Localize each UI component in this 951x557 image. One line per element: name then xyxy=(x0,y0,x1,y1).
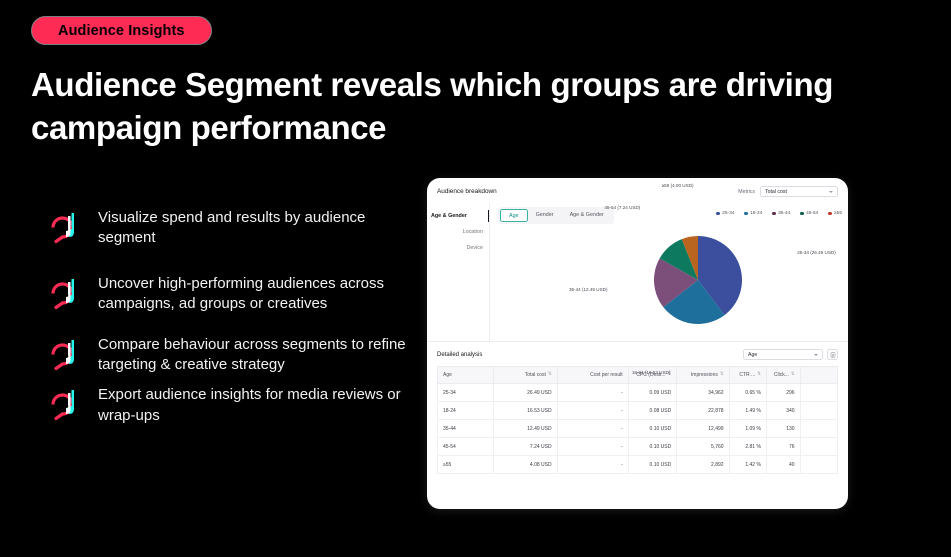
tiktok-mark-icon xyxy=(48,275,86,311)
list-item: Export audience insights for media revie… xyxy=(48,383,408,426)
cell-cost-per-result: - xyxy=(557,384,628,402)
panel-title: Audience breakdown xyxy=(437,188,497,195)
cell-impressions: 2,892 xyxy=(677,456,729,474)
cell-ctr: 2.81 % xyxy=(729,438,766,456)
column-header-age[interactable]: Age xyxy=(438,367,494,384)
cell-clicks: 340 xyxy=(766,402,800,420)
dimension-select-value: Age xyxy=(748,352,757,358)
sort-icon[interactable]: ⇅ xyxy=(720,372,724,376)
metrics-select-value: Total cost xyxy=(765,189,787,195)
column-label: Cost per result xyxy=(590,372,623,378)
cell-cpc: 0.10 USD xyxy=(628,438,677,456)
tab-age-gender[interactable]: Age & Gender xyxy=(562,209,612,222)
cell-total-cost: 4.08 USD xyxy=(494,456,558,474)
list-item-label: Uncover high-performing audiences across… xyxy=(98,272,408,315)
detailed-analysis-panel: Detailed analysis Age xyxy=(427,341,848,509)
column-header-spacer xyxy=(800,367,837,384)
cell-spacer xyxy=(800,438,837,456)
chart-legend: 25-34 18-24 35-44 45-54 ≥55 xyxy=(716,211,842,216)
cell-spacer xyxy=(800,402,837,420)
column-header-cost-per-result[interactable]: Cost per result xyxy=(557,367,628,384)
list-item-label: Compare behaviour across segments to ref… xyxy=(98,333,408,376)
cell-total-cost: 7.24 USD xyxy=(494,438,558,456)
legend-item: ≥55 xyxy=(828,211,842,216)
table-row: 25-34 26.49 USD - 0.09 USD 34,962 0.65 %… xyxy=(438,384,838,402)
cell-cpc: 0.09 USD xyxy=(628,384,677,402)
pie-chart: 25-34 (26.49 USD) 18-24 (16.53 USD) 35-4… xyxy=(498,228,842,332)
analysis-table: Age Total cost⇅ Cost per result CPC (Des… xyxy=(437,366,838,474)
column-header-total-cost[interactable]: Total cost⇅ xyxy=(494,367,558,384)
cell-age: 35-44 xyxy=(438,420,494,438)
section-badge: Audience Insights xyxy=(31,16,212,45)
legend-item: 18-24 xyxy=(744,211,762,216)
page-title: Audience Segment reveals which groups ar… xyxy=(31,64,911,149)
cell-spacer xyxy=(800,420,837,438)
column-label: Impressions xyxy=(691,372,718,378)
tiktok-mark-icon xyxy=(48,209,86,245)
cell-spacer xyxy=(800,456,837,474)
pie-slice-label: 35-44 (12.49 USD) xyxy=(569,287,608,292)
table-row: 35-44 12.49 USD - 0.10 USD 12,499 1.09 %… xyxy=(438,420,838,438)
column-header-clicks[interactable]: Click...⇅ xyxy=(766,367,800,384)
column-label: Click... xyxy=(774,372,789,378)
cell-clicks: 40 xyxy=(766,456,800,474)
column-header-ctr[interactable]: CTR ...⇅ xyxy=(729,367,766,384)
column-label: CTR ... xyxy=(739,372,755,378)
breakdown-sidebar: Age & Gender Location Device xyxy=(427,203,489,341)
sidebar-item-label: Device xyxy=(467,245,483,251)
cell-clicks: 296 xyxy=(766,384,800,402)
table-row: 18-24 16.53 USD - 0.08 USD 22,878 1.49 %… xyxy=(438,402,838,420)
slide: Audience Insights Audience Segment revea… xyxy=(0,0,951,557)
sidebar-item-age-gender[interactable]: Age & Gender xyxy=(429,208,489,224)
export-icon xyxy=(830,352,836,358)
list-item: Compare behaviour across segments to ref… xyxy=(48,333,408,376)
chevron-down-icon xyxy=(814,354,818,356)
cell-cpc: 0.10 USD xyxy=(628,456,677,474)
cell-cpc: 0.10 USD xyxy=(628,420,677,438)
tiktok-mark-icon xyxy=(48,386,86,422)
pie-slice-label: 18-24 (16.53 USD) xyxy=(632,370,671,375)
cell-clicks: 76 xyxy=(766,438,800,456)
cell-impressions: 22,878 xyxy=(677,402,729,420)
cell-cost-per-result: - xyxy=(557,456,628,474)
column-label: Age xyxy=(443,372,452,378)
list-item-label: Export audience insights for media revie… xyxy=(98,383,408,426)
list-item: Visualize spend and results by audience … xyxy=(48,206,408,249)
chevron-down-icon xyxy=(829,191,833,193)
column-header-impressions[interactable]: Impressions⇅ xyxy=(677,367,729,384)
cell-total-cost: 12.49 USD xyxy=(494,420,558,438)
pie-slice-label: 25-34 (26.49 USD) xyxy=(797,250,836,255)
legend-item: 25-34 xyxy=(716,211,734,216)
sidebar-item-location[interactable]: Location xyxy=(429,224,489,240)
metrics-select[interactable]: Total cost xyxy=(760,186,838,197)
breakdown-tabs: Age Gender Age & Gender xyxy=(498,207,614,224)
cell-ctr: 1.09 % xyxy=(729,420,766,438)
cell-impressions: 12,499 xyxy=(677,420,729,438)
list-item: Uncover high-performing audiences across… xyxy=(48,272,408,315)
sort-icon[interactable]: ⇅ xyxy=(757,372,761,376)
cell-impressions: 34,962 xyxy=(677,384,729,402)
legend-item: 45-54 xyxy=(800,211,818,216)
cell-cost-per-result: - xyxy=(557,438,628,456)
sidebar-item-label: Age & Gender xyxy=(431,213,467,219)
dashboard-card: Audience breakdown Metrics Total cost Ag… xyxy=(427,178,848,509)
legend-label: 25-34 xyxy=(722,211,734,216)
cell-age: 45-54 xyxy=(438,438,494,456)
cell-cpc: 0.08 USD xyxy=(628,402,677,420)
cell-ctr: 0.65 % xyxy=(729,384,766,402)
cell-impressions: 5,760 xyxy=(677,438,729,456)
table-row: ≥55 4.08 USD - 0.10 USD 2,892 1.42 % 40 xyxy=(438,456,838,474)
sidebar-item-device[interactable]: Device xyxy=(429,240,489,256)
pie-slice-label: 45-54 (7.24 USD) xyxy=(604,205,640,210)
column-label: Total cost xyxy=(525,372,546,378)
legend-label: 45-54 xyxy=(806,211,818,216)
table-row: 45-54 7.24 USD - 0.10 USD 5,760 2.81 % 7… xyxy=(438,438,838,456)
dimension-select[interactable]: Age xyxy=(743,349,823,360)
legend-label: ≥55 xyxy=(834,211,842,216)
bullet-list: Visualize spend and results by audience … xyxy=(48,206,408,444)
list-item-label: Visualize spend and results by audience … xyxy=(98,206,408,249)
detailed-analysis-title: Detailed analysis xyxy=(437,352,482,358)
cell-cost-per-result: - xyxy=(557,402,628,420)
legend-item: 35-44 xyxy=(772,211,790,216)
audience-breakdown-panel: Audience breakdown Metrics Total cost xyxy=(427,178,848,197)
tab-gender[interactable]: Gender xyxy=(528,209,562,222)
cell-cost-per-result: - xyxy=(557,420,628,438)
sort-icon[interactable]: ⇅ xyxy=(548,372,552,376)
cell-age: ≥55 xyxy=(438,456,494,474)
cell-age: 25-34 xyxy=(438,384,494,402)
cell-ctr: 1.42 % xyxy=(729,456,766,474)
pie-slice-label: ≥55 (4.00 USD) xyxy=(662,183,694,188)
cell-age: 18-24 xyxy=(438,402,494,420)
cell-ctr: 1.49 % xyxy=(729,402,766,420)
tab-age[interactable]: Age xyxy=(500,209,528,222)
cell-spacer xyxy=(800,384,837,402)
cell-total-cost: 16.53 USD xyxy=(494,402,558,420)
cell-total-cost: 26.49 USD xyxy=(494,384,558,402)
metrics-label: Metrics xyxy=(738,189,755,195)
sidebar-item-label: Location xyxy=(463,229,483,235)
export-button[interactable] xyxy=(827,349,838,360)
legend-label: 35-44 xyxy=(778,211,790,216)
sort-icon[interactable]: ⇅ xyxy=(791,372,795,376)
cell-clicks: 130 xyxy=(766,420,800,438)
pie-chart-svg xyxy=(498,228,838,332)
tiktok-mark-icon xyxy=(48,336,86,372)
legend-label: 18-24 xyxy=(750,211,762,216)
chart-area: Age Gender Age & Gender 25-34 18-24 35-4… xyxy=(489,203,848,341)
